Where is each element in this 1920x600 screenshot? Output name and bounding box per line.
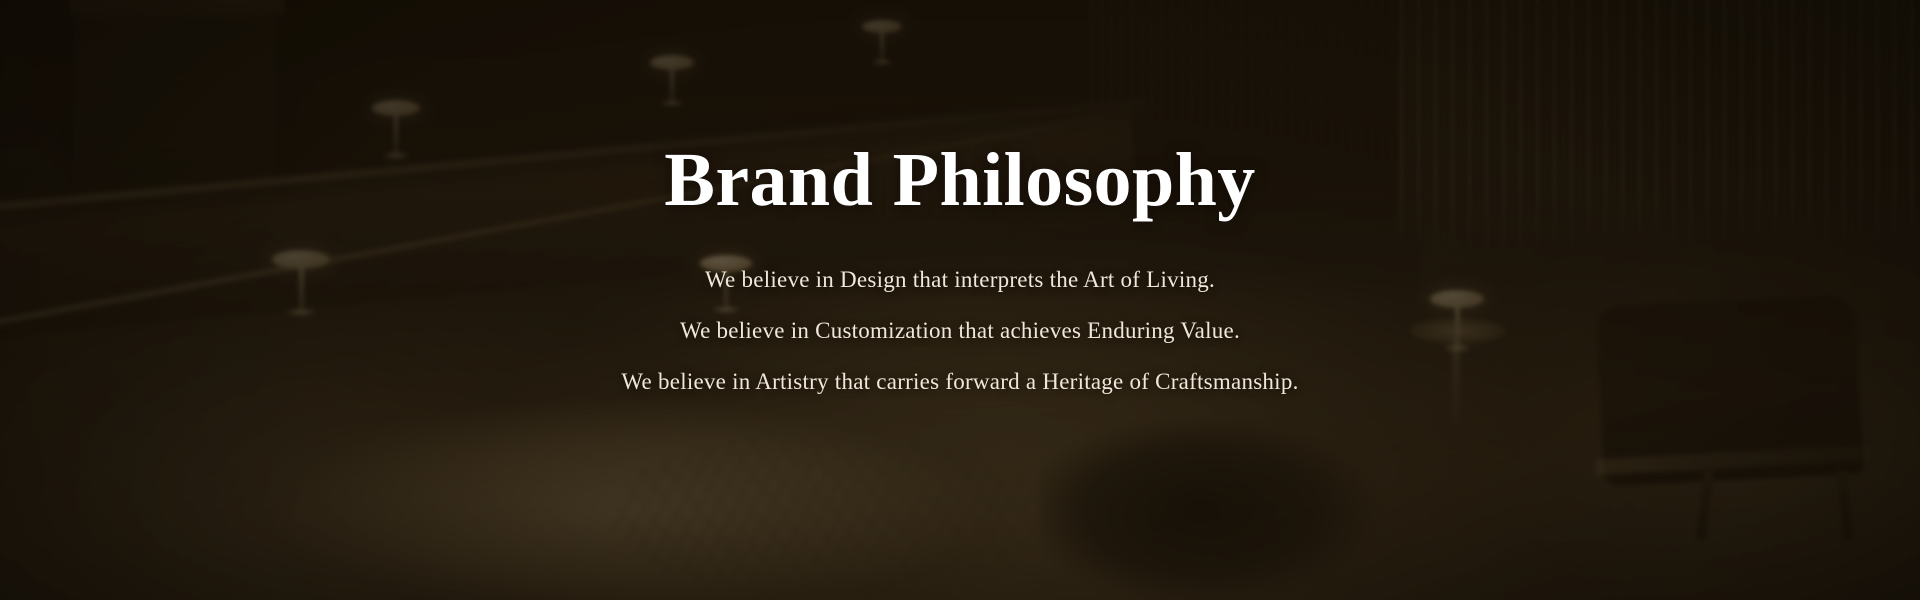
philosophy-line-3: We believe in Artistry that carries forw… [621,356,1298,407]
hero-content: Brand Philosophy We believe in Design th… [0,0,1920,600]
philosophy-line-2: We believe in Customization that achieve… [680,305,1240,356]
page-title: Brand Philosophy [664,142,1255,220]
philosophy-line-1: We believe in Design that interprets the… [705,254,1215,305]
philosophy-statements: We believe in Design that interprets the… [621,254,1298,407]
brand-philosophy-hero: Brand Philosophy We believe in Design th… [0,0,1920,600]
